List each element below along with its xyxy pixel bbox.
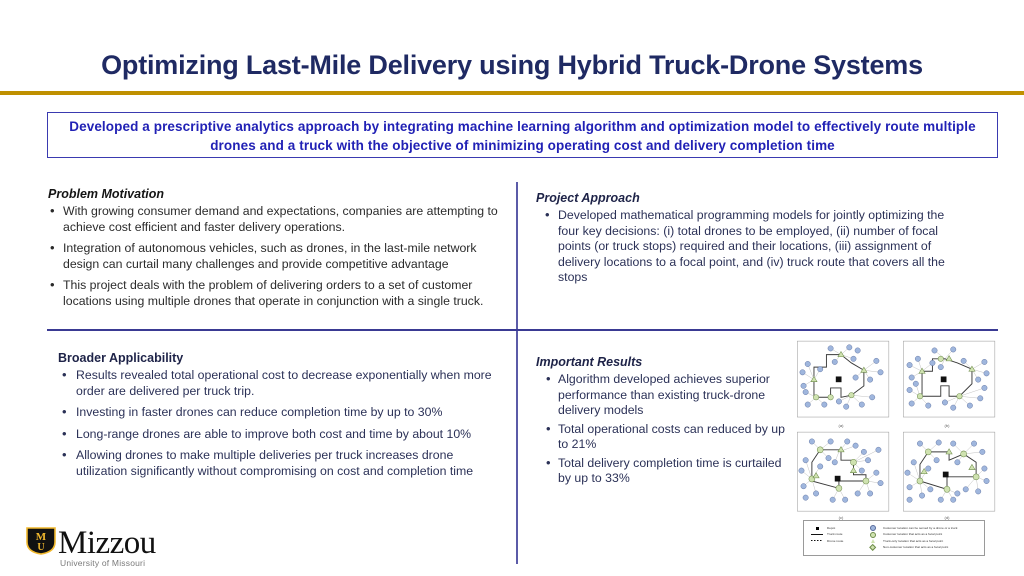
legend-column-right: Customer location can be served by a dro… [866,525,957,551]
bullet-list-problem-motivation: With growing consumer demand and expecta… [48,204,508,309]
vertical-divider [516,182,518,564]
network-panel-d: (d) [895,429,999,518]
legend-column-left: Depot Truck route Drone route [810,525,843,544]
bullet-list-broader-applicability: Results revealed total operational cost … [58,368,503,479]
mizzou-tagline: University of Missouri [60,558,145,568]
truck-route-line-icon [810,534,824,535]
section-project-approach: Project Approach Developed mathematical … [536,191,964,292]
section-heading-broader-applicability: Broader Applicability [58,351,503,365]
svg-text:U: U [37,542,44,553]
list-item: Results revealed total operational cost … [58,368,503,399]
list-item: Allowing drones to make multiple deliver… [58,448,503,479]
green-triangle-icon [866,539,880,543]
list-item: Long-range drones are able to improve bo… [58,427,503,443]
list-item: Algorithm developed achieves superior pe… [536,372,786,419]
horizontal-divider [47,329,998,331]
list-item: Integration of autonomous vehicles, such… [48,241,508,272]
network-panel-a: (a) [789,338,893,427]
section-important-results: Important Results Algorithm developed ac… [536,355,786,490]
figure-legend: Depot Truck route Drone route Customer l… [803,520,985,556]
bullet-list-important-results: Algorithm developed achieves superior pe… [536,372,786,487]
network-panel-b: (b) [895,338,999,427]
mizzou-wordmark: Mizzou [58,525,156,562]
list-item: This project deals with the problem of d… [48,278,508,309]
mizzou-logo: M U Mizzou University of Missouri [26,527,206,571]
network-panel-grid: (a) [789,338,999,513]
panel-caption-a: (a) [789,423,893,428]
legend-label: Drone route [827,538,843,544]
legend-item-noncustomer-focal: Non-customer location that acts as a foc… [866,544,957,550]
panel-caption-b: (b) [895,423,999,428]
section-heading-project-approach: Project Approach [536,191,964,205]
network-diagram-c [789,429,893,518]
page-title: Optimizing Last-Mile Delivery using Hybr… [0,50,1024,81]
list-item: Developed mathematical programming model… [536,208,964,286]
mu-shield-icon: M U [26,527,56,555]
depot-square-icon [810,527,824,530]
list-item: With growing consumer demand and expecta… [48,204,508,235]
drone-route-dashed-icon [810,540,824,541]
list-item: Investing in faster drones can reduce co… [58,405,503,421]
network-panel-c: (c) [789,429,893,518]
blue-circle-icon [866,525,880,531]
section-broader-applicability: Broader Applicability Results revealed t… [58,351,503,485]
results-figure: (a) [789,338,999,568]
legend-item-drone-route: Drone route [810,538,843,544]
section-heading-problem-motivation: Problem Motivation [48,187,508,201]
title-gold-rule [0,91,1024,95]
list-item: Total delivery completion time is curtai… [536,456,786,487]
green-diamond-icon [866,545,880,550]
network-diagram-d [895,429,999,518]
green-circle-icon [866,532,880,538]
network-diagram-b [895,338,999,427]
section-heading-important-results: Important Results [536,355,786,369]
section-problem-motivation: Problem Motivation With growing consumer… [48,187,508,315]
bullet-list-project-approach: Developed mathematical programming model… [536,208,964,286]
objective-callout-text: Developed a prescriptive analytics appro… [50,118,995,155]
legend-label: Non-customer location that acts as a foc… [883,544,948,550]
list-item: Total operational costs can reduced by u… [536,422,786,453]
network-diagram-a [789,338,893,427]
poster-slide: Optimizing Last-Mile Delivery using Hybr… [0,0,1024,576]
